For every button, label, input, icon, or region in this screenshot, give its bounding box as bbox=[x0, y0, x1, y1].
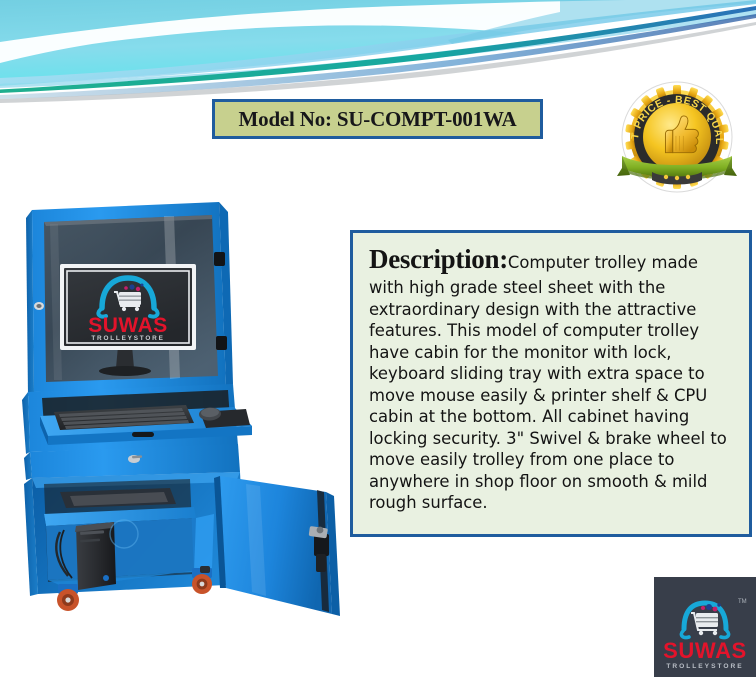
description-heading: Description bbox=[369, 244, 499, 274]
brand-logo-svg: TM SUWAS TROLLEYSTORE bbox=[654, 577, 756, 677]
logo-brand: SUWAS bbox=[663, 638, 747, 663]
model-number-text: Model No: SU-COMPT-001WA bbox=[239, 107, 517, 132]
logo-trademark: TM bbox=[738, 599, 747, 605]
wave-band-primary bbox=[0, 0, 756, 86]
suwas-brand-logo: TM SUWAS TROLLEYSTORE bbox=[654, 577, 756, 677]
caster-front-right bbox=[192, 566, 212, 594]
description-box: Description:Computer trolley made with h… bbox=[350, 230, 752, 537]
trolley-svg: SUWAS TROLLEYSTORE bbox=[14, 196, 350, 626]
monitor-logo-brand: SUWAS bbox=[88, 314, 168, 337]
description-body: Computer trolley made with high grade st… bbox=[369, 253, 727, 512]
badge-svg: BEST PRICE - BEST QUALITY bbox=[616, 76, 738, 198]
cpu-cabin bbox=[24, 472, 246, 596]
monitor-cabin-lock bbox=[34, 302, 44, 310]
caster-front-left bbox=[57, 584, 79, 611]
product-catalog-page: Model No: SU-COMPT-001WA bbox=[0, 0, 756, 677]
computer-trolley-photo: SUWAS TROLLEYSTORE bbox=[14, 196, 350, 626]
description-text: Description:Computer trolley made with h… bbox=[369, 242, 737, 514]
keyboard-tray-section bbox=[22, 384, 252, 454]
cabin-hinge-top bbox=[214, 252, 225, 266]
logo-tagline: TROLLEYSTORE bbox=[666, 663, 743, 670]
best-price-best-quality-badge: BEST PRICE - BEST QUALITY bbox=[616, 76, 738, 198]
cabinet-door-open bbox=[214, 476, 340, 616]
description-heading-colon: : bbox=[499, 244, 508, 274]
monitor-cabin: SUWAS TROLLEYSTORE bbox=[26, 202, 233, 396]
model-number-banner: Model No: SU-COMPT-001WA bbox=[212, 99, 543, 139]
monitor-logo-tagline: TROLLEYSTORE bbox=[91, 335, 164, 342]
cabin-hinge-bottom bbox=[216, 336, 227, 350]
wave-arc-topright bbox=[448, 0, 756, 44]
wave-gap-white bbox=[0, 0, 756, 63]
wave-ribbon-blue bbox=[0, 0, 756, 84]
